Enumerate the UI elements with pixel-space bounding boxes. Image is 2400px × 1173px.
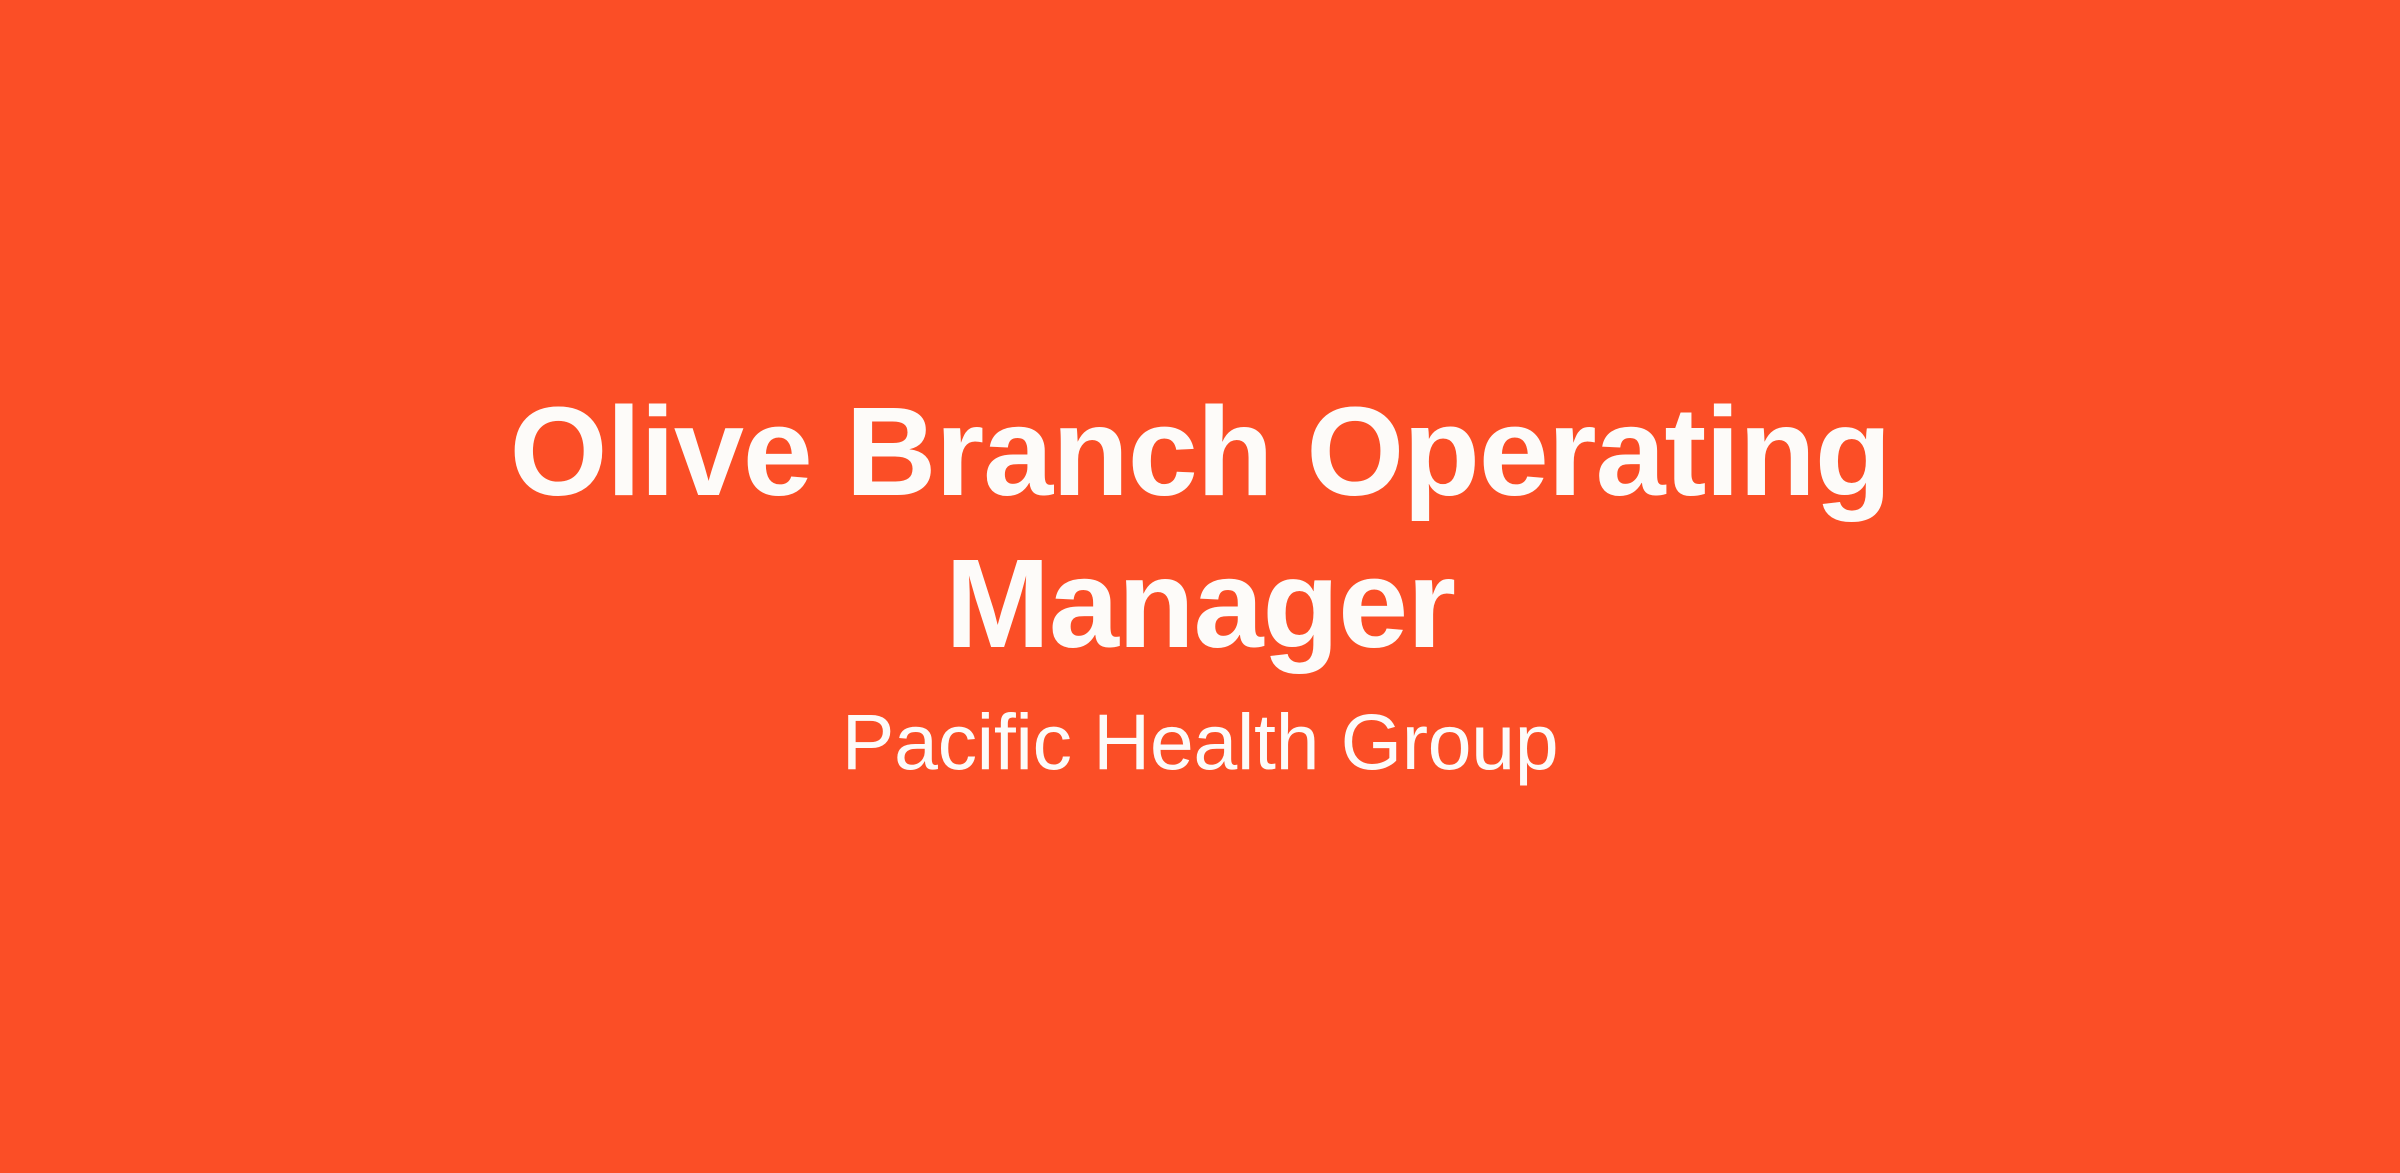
company-name: Pacific Health Group bbox=[842, 694, 1559, 790]
job-title: Olive Branch Operating Manager bbox=[495, 376, 1905, 680]
job-posting-hero-card: Olive Branch Operating Manager Pacific H… bbox=[0, 0, 2400, 1173]
hero-text-stack: Olive Branch Operating Manager Pacific H… bbox=[470, 376, 1930, 790]
